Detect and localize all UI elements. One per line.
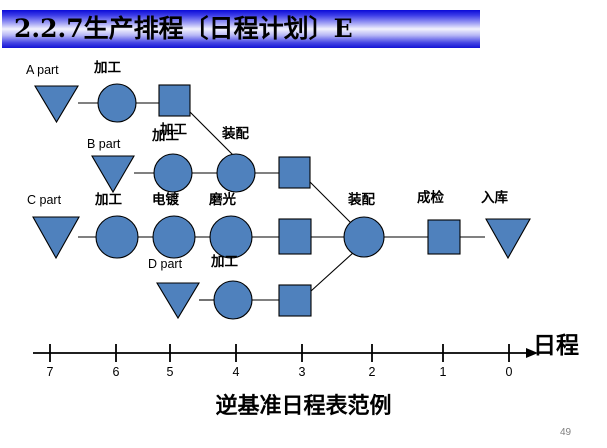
- node-c-square[interactable]: [279, 219, 311, 254]
- axis-label-5: 5: [158, 365, 182, 379]
- node-b-square[interactable]: [279, 157, 310, 188]
- node-chengjian-square[interactable]: [428, 220, 460, 254]
- node-d-part-triangle[interactable]: [157, 283, 199, 318]
- axis-label-0: 0: [497, 365, 521, 379]
- label-ruku: 入库: [481, 192, 508, 206]
- label-b-jiagong: 加工: [152, 130, 179, 144]
- label-a-part: A part: [26, 64, 59, 77]
- axis-label-3: 3: [290, 365, 314, 379]
- slide-canvas: 2.2.7生产排程〔日程计划〕E: [0, 0, 607, 448]
- schedule-network-diagram: [0, 0, 607, 448]
- node-c-part-triangle[interactable]: [33, 217, 79, 258]
- axis-title: 日程: [533, 326, 579, 360]
- connector-d-square-to-final: [311, 252, 354, 291]
- node-final-zhuangpei-circle[interactable]: [344, 217, 384, 257]
- label-c-moguang: 磨光: [209, 194, 236, 208]
- label-chengjian: 成检: [417, 192, 444, 206]
- node-c-diandu-circle[interactable]: [153, 216, 195, 258]
- node-d-square[interactable]: [279, 285, 311, 316]
- node-d-jiagong-circle[interactable]: [214, 281, 252, 319]
- axis-label-1: 1: [431, 365, 455, 379]
- axis-label-6: 6: [104, 365, 128, 379]
- label-c-diandu: 电镀: [152, 194, 179, 208]
- label-b-zhuangpei: 装配: [222, 128, 249, 142]
- label-c-part: C part: [27, 194, 61, 207]
- label-c-jiagong: 加工: [95, 194, 122, 208]
- node-c-jiagong-circle[interactable]: [96, 216, 138, 258]
- node-a-jiagong2-square[interactable]: [159, 85, 190, 116]
- label-final-zhuangpei: 装配: [348, 194, 375, 208]
- diagram-caption: 逆基准日程表范例: [0, 388, 607, 420]
- axis-label-7: 7: [38, 365, 62, 379]
- label-d-part: D part: [148, 258, 182, 271]
- axis-label-4: 4: [224, 365, 248, 379]
- axis-label-2: 2: [360, 365, 384, 379]
- label-b-part: B part: [87, 138, 120, 151]
- label-a-jiagong: 加工: [94, 62, 121, 76]
- node-b-jiagong-circle[interactable]: [154, 154, 192, 192]
- connector-b-square-to-final: [310, 182, 352, 224]
- page-number: 49: [560, 427, 571, 438]
- node-c-moguang-circle[interactable]: [210, 216, 252, 258]
- node-b-part-triangle[interactable]: [92, 156, 134, 192]
- node-a-jiagong-circle[interactable]: [98, 84, 136, 122]
- node-b-zhuangpei-circle[interactable]: [217, 154, 255, 192]
- node-a-part-triangle[interactable]: [35, 86, 78, 122]
- label-d-jiagong: 加工: [211, 256, 238, 270]
- node-ruku-triangle[interactable]: [486, 219, 530, 258]
